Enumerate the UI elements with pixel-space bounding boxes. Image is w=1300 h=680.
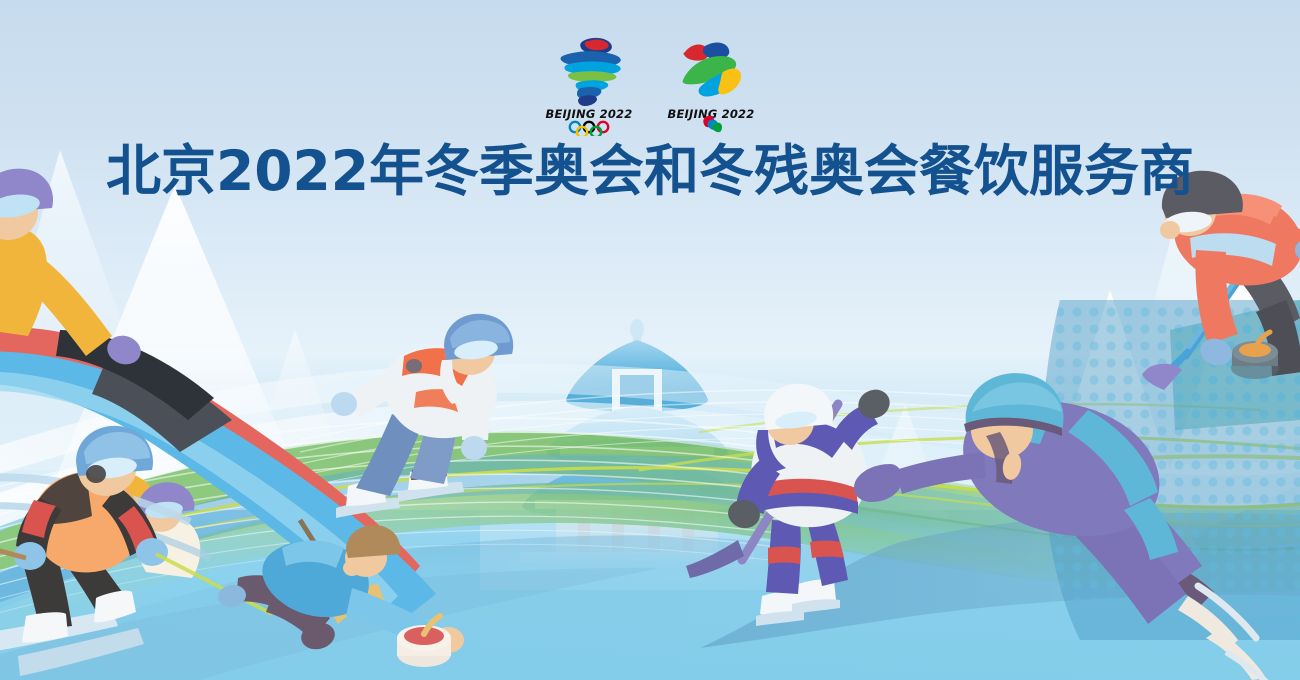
emblem-row: BEIJING 2022 BEI xyxy=(0,28,1300,138)
athlete-speed-skater xyxy=(854,373,1276,680)
beijing-2022-olympic-emblem: BEIJING 2022 xyxy=(539,28,639,136)
paralympic-ribbon-icon xyxy=(683,43,741,97)
olympic-rings-icon xyxy=(570,122,608,136)
beijing-2022-catering-banner: BEIJING 2022 BEI xyxy=(0,0,1300,680)
page-title: 北京2022年冬季奥会和冬残奥会餐饮服务商 xyxy=(0,142,1300,200)
athlete-curler-sweeper xyxy=(1142,171,1300,390)
olympic-wordmark: BEIJING 2022 xyxy=(546,107,633,121)
athlete-ice-hockey-player xyxy=(686,384,894,626)
athlete-short-track-skater xyxy=(331,314,513,518)
beijing-2022-paralympic-emblem: BEIJING 2022 xyxy=(661,28,761,136)
olympic-ribbon-icon xyxy=(561,38,621,106)
